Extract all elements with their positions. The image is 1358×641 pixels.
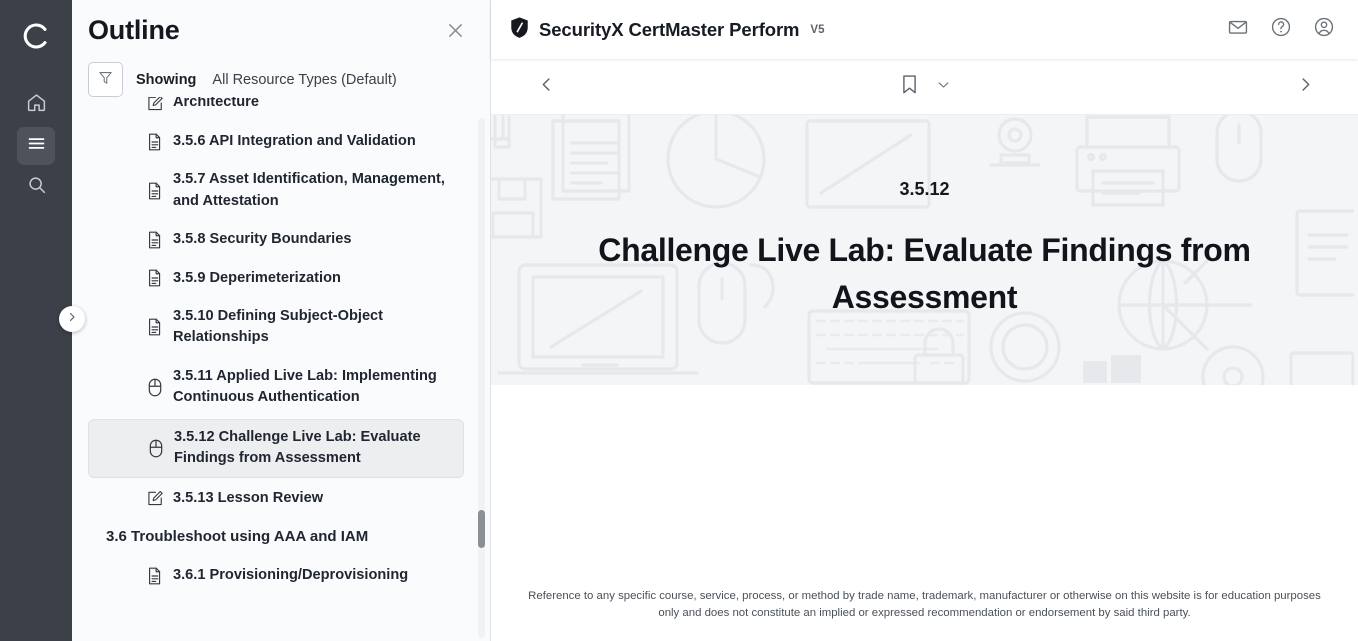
document-icon — [146, 318, 163, 337]
edit-pencil-icon — [146, 489, 163, 508]
outline-item[interactable]: 3.5.6 API Integration and Validation — [136, 124, 464, 159]
outline-header: Outline — [72, 0, 490, 46]
outline-item-label: 3.6.1 Provisioning/Deprovisioning — [173, 565, 408, 586]
sidebar-item-search[interactable] — [17, 168, 55, 206]
user-account-button[interactable] — [1312, 18, 1336, 42]
lesson-body: Reference to any specific course, servic… — [491, 385, 1358, 641]
brand-version: V5 — [810, 24, 824, 36]
outline-tree[interactable]: Architecture3.5.6 API Integration and Va… — [72, 97, 490, 641]
document-icon — [146, 230, 163, 249]
close-icon — [445, 20, 466, 46]
lesson-nav-bar — [491, 59, 1358, 115]
expand-panel-button[interactable] — [59, 306, 85, 332]
previous-page-button[interactable] — [529, 70, 563, 104]
bookmark-group — [899, 73, 951, 101]
showing-label: Showing — [136, 72, 196, 88]
outline-item-label: 3.5.9 Deperimeterization — [173, 268, 341, 289]
computer-mouse-icon — [146, 378, 163, 397]
mail-icon — [1227, 16, 1249, 43]
outline-item-label: 3.5.7 Asset Identification, Management, … — [173, 169, 454, 212]
user-account-icon — [1313, 16, 1335, 43]
filter-row: Showing All Resource Types (Default) — [72, 46, 490, 97]
outline-item[interactable]: 3.6 Troubleshoot using AAA and IAM — [88, 519, 464, 555]
outline-item[interactable]: 3.6.1 Provisioning/Deprovisioning — [136, 558, 464, 593]
lesson-banner: 3.5.12 Challenge Live Lab: Evaluate Find… — [491, 115, 1358, 385]
mail-button[interactable] — [1226, 18, 1250, 42]
outline-item-selected[interactable]: 3.5.12 Challenge Live Lab: Evaluate Find… — [88, 419, 464, 478]
outline-item-label: Architecture — [173, 97, 259, 113]
outline-scrollbar[interactable] — [478, 118, 485, 638]
app-header: SecurityX CertMaster Perform V5 — [491, 0, 1358, 59]
filter-funnel-icon — [97, 69, 114, 91]
outline-item[interactable]: 3.5.8 Security Boundaries — [136, 222, 464, 257]
outline-item[interactable]: 3.5.9 Deperimeterization — [136, 261, 464, 296]
outline-panel: Outline Showing All Resource Types (Defa… — [72, 0, 491, 641]
hamburger-menu-icon — [26, 133, 47, 159]
brand: SecurityX CertMaster Perform V5 — [509, 16, 825, 44]
help-circle-icon — [1270, 16, 1292, 43]
outline-item-label: 3.5.13 Lesson Review — [173, 488, 323, 509]
outline-item[interactable]: 3.5.13 Lesson Review — [136, 481, 464, 516]
main-content: SecurityX CertMaster Perform V5 — [491, 0, 1358, 641]
help-button[interactable] — [1269, 18, 1293, 42]
outline-scrollbar-thumb[interactable] — [478, 510, 485, 548]
lesson-title: Challenge Live Lab: Evaluate Findings fr… — [575, 227, 1275, 322]
document-icon — [146, 566, 163, 585]
outline-item[interactable]: 3.5.7 Asset Identification, Management, … — [136, 162, 464, 219]
chevron-right-icon — [66, 310, 78, 328]
search-icon — [26, 174, 47, 200]
sidebar-item-home[interactable] — [17, 86, 55, 124]
sidebar-item-outline[interactable] — [17, 127, 55, 165]
chevron-down-icon — [936, 77, 951, 97]
outline-item[interactable]: Architecture — [136, 97, 464, 120]
outline-item-label: 3.5.11 Applied Live Lab: Implementing Co… — [173, 366, 454, 409]
outline-item-label: 3.5.12 Challenge Live Lab: Evaluate Find… — [174, 427, 453, 470]
showing-value: All Resource Types (Default) — [212, 72, 396, 88]
comptia-c-logo-icon[interactable] — [16, 16, 56, 56]
header-icon-group — [1226, 18, 1336, 42]
outline-item[interactable]: 3.5.10 Defining Subject-Object Relations… — [136, 299, 464, 356]
edit-pencil-icon — [146, 97, 163, 112]
bookmark-button[interactable] — [899, 73, 920, 101]
section-number: 3.5.12 — [899, 179, 949, 200]
next-page-button[interactable] — [1288, 70, 1322, 104]
close-outline-button[interactable] — [442, 20, 468, 46]
outline-item-label: 3.6 Troubleshoot using AAA and IAM — [106, 526, 368, 548]
outline-item[interactable]: 3.5.11 Applied Live Lab: Implementing Co… — [136, 359, 464, 416]
disclaimer-text: Reference to any specific course, servic… — [491, 588, 1358, 623]
page-title: Outline — [88, 14, 180, 46]
document-icon — [146, 132, 163, 151]
computer-mouse-icon — [147, 439, 164, 458]
outline-item-label: 3.5.10 Defining Subject-Object Relations… — [173, 306, 454, 349]
brand-name: SecurityX CertMaster Perform — [539, 19, 799, 41]
bookmark-dropdown-button[interactable] — [936, 77, 951, 97]
chevron-right-icon — [1296, 75, 1315, 99]
document-icon — [146, 269, 163, 288]
outline-item-label: 3.5.6 API Integration and Validation — [173, 131, 416, 152]
document-icon — [146, 181, 163, 200]
app-root: Outline Showing All Resource Types (Defa… — [0, 0, 1358, 641]
outline-item-label: 3.5.8 Security Boundaries — [173, 229, 351, 250]
bookmark-icon — [899, 73, 920, 101]
shield-icon — [509, 16, 530, 44]
chevron-left-icon — [537, 75, 556, 99]
filter-button[interactable] — [88, 62, 123, 97]
home-icon — [26, 92, 47, 118]
